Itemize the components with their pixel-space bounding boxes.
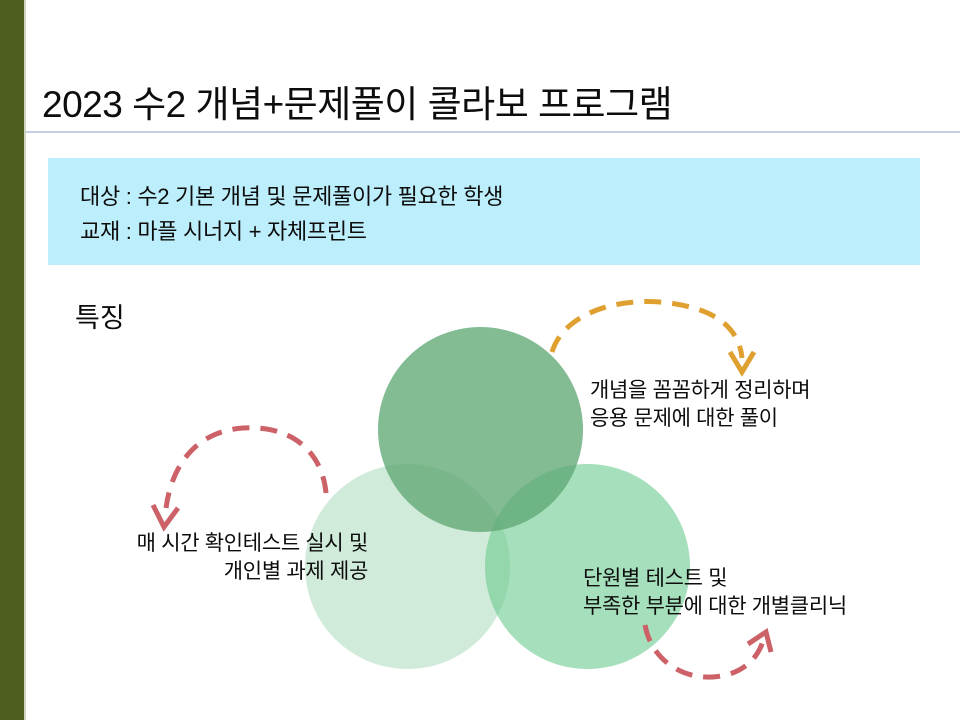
left-callout-line-1: 매 시간 확인테스트 실시 및 [58, 530, 368, 558]
info-box-line-target: 대상 : 수2 기본 개념 및 문제풀이가 필요한 학생 [80, 179, 503, 211]
bottom-right-callout-line-2: 부족한 부분에 대한 개별클리닉 [583, 593, 847, 621]
title-divider [26, 131, 960, 133]
top-callout-line-2: 응용 문제에 대한 풀이 [590, 405, 810, 433]
left-callout-text: 매 시간 확인테스트 실시 및 개인별 과제 제공 [58, 530, 368, 587]
left-accent-bar [0, 0, 24, 720]
bottom-right-callout-line-1: 단원별 테스트 및 [583, 565, 847, 593]
top-circle [378, 327, 583, 532]
page-title: 2023 수2 개념+문제풀이 콜라보 프로그램 [42, 74, 672, 128]
left-callout-line-2: 개인별 과제 제공 [58, 558, 368, 586]
left-accent-bar-edge [24, 0, 26, 720]
info-box-line-textbook: 교재 : 마플 시너지 + 자체프린트 [80, 214, 367, 246]
orange-curved-arrow-icon [552, 302, 754, 372]
bottom-right-callout-text: 단원별 테스트 및 부족한 부분에 대한 개별클리닉 [583, 565, 847, 622]
info-box: 대상 : 수2 기본 개념 및 문제풀이가 필요한 학생 교재 : 마플 시너지… [48, 158, 920, 265]
top-callout-line-1: 개념을 꼼꼼하게 정리하며 [590, 377, 810, 405]
slide-canvas: 2023 수2 개념+문제풀이 콜라보 프로그램 대상 : 수2 기본 개념 및… [0, 0, 960, 720]
red-curved-arrow-bottom-icon [645, 625, 771, 677]
features-heading: 특징 [75, 296, 125, 335]
top-callout-text: 개념을 꼼꼼하게 정리하며 응용 문제에 대한 풀이 [590, 377, 810, 434]
red-curved-arrow-left-icon [153, 428, 326, 527]
